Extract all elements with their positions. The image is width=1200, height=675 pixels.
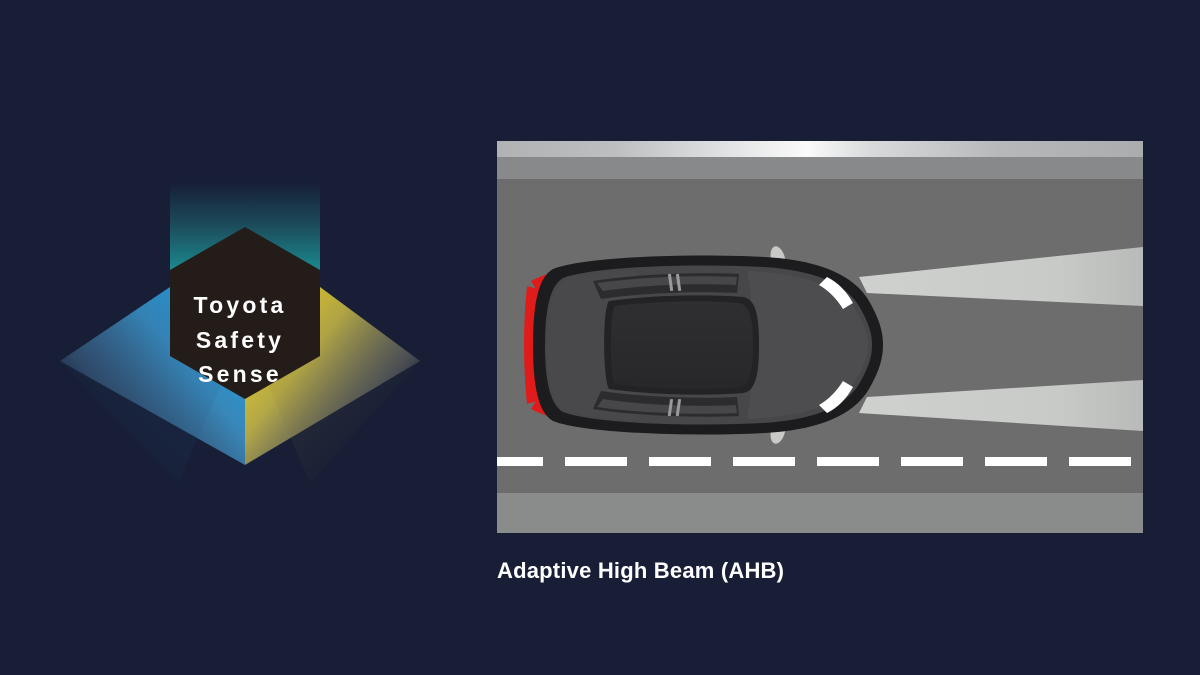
page-root: Toyota Safety Sense xyxy=(0,0,1200,675)
car-top-down xyxy=(524,245,883,446)
adaptive-high-beam-illustration xyxy=(497,141,1143,533)
illustration-caption: Adaptive High Beam (AHB) xyxy=(497,558,1143,584)
road-scene xyxy=(497,141,1143,533)
lower-shoulder-band xyxy=(497,493,1143,533)
toyota-safety-sense-logo: Toyota Safety Sense xyxy=(60,165,420,515)
car-roof-sheen xyxy=(611,301,753,388)
logo-graphic xyxy=(60,165,420,515)
horizon-highlight-band xyxy=(497,141,1143,157)
upper-shoulder-band xyxy=(497,157,1143,179)
